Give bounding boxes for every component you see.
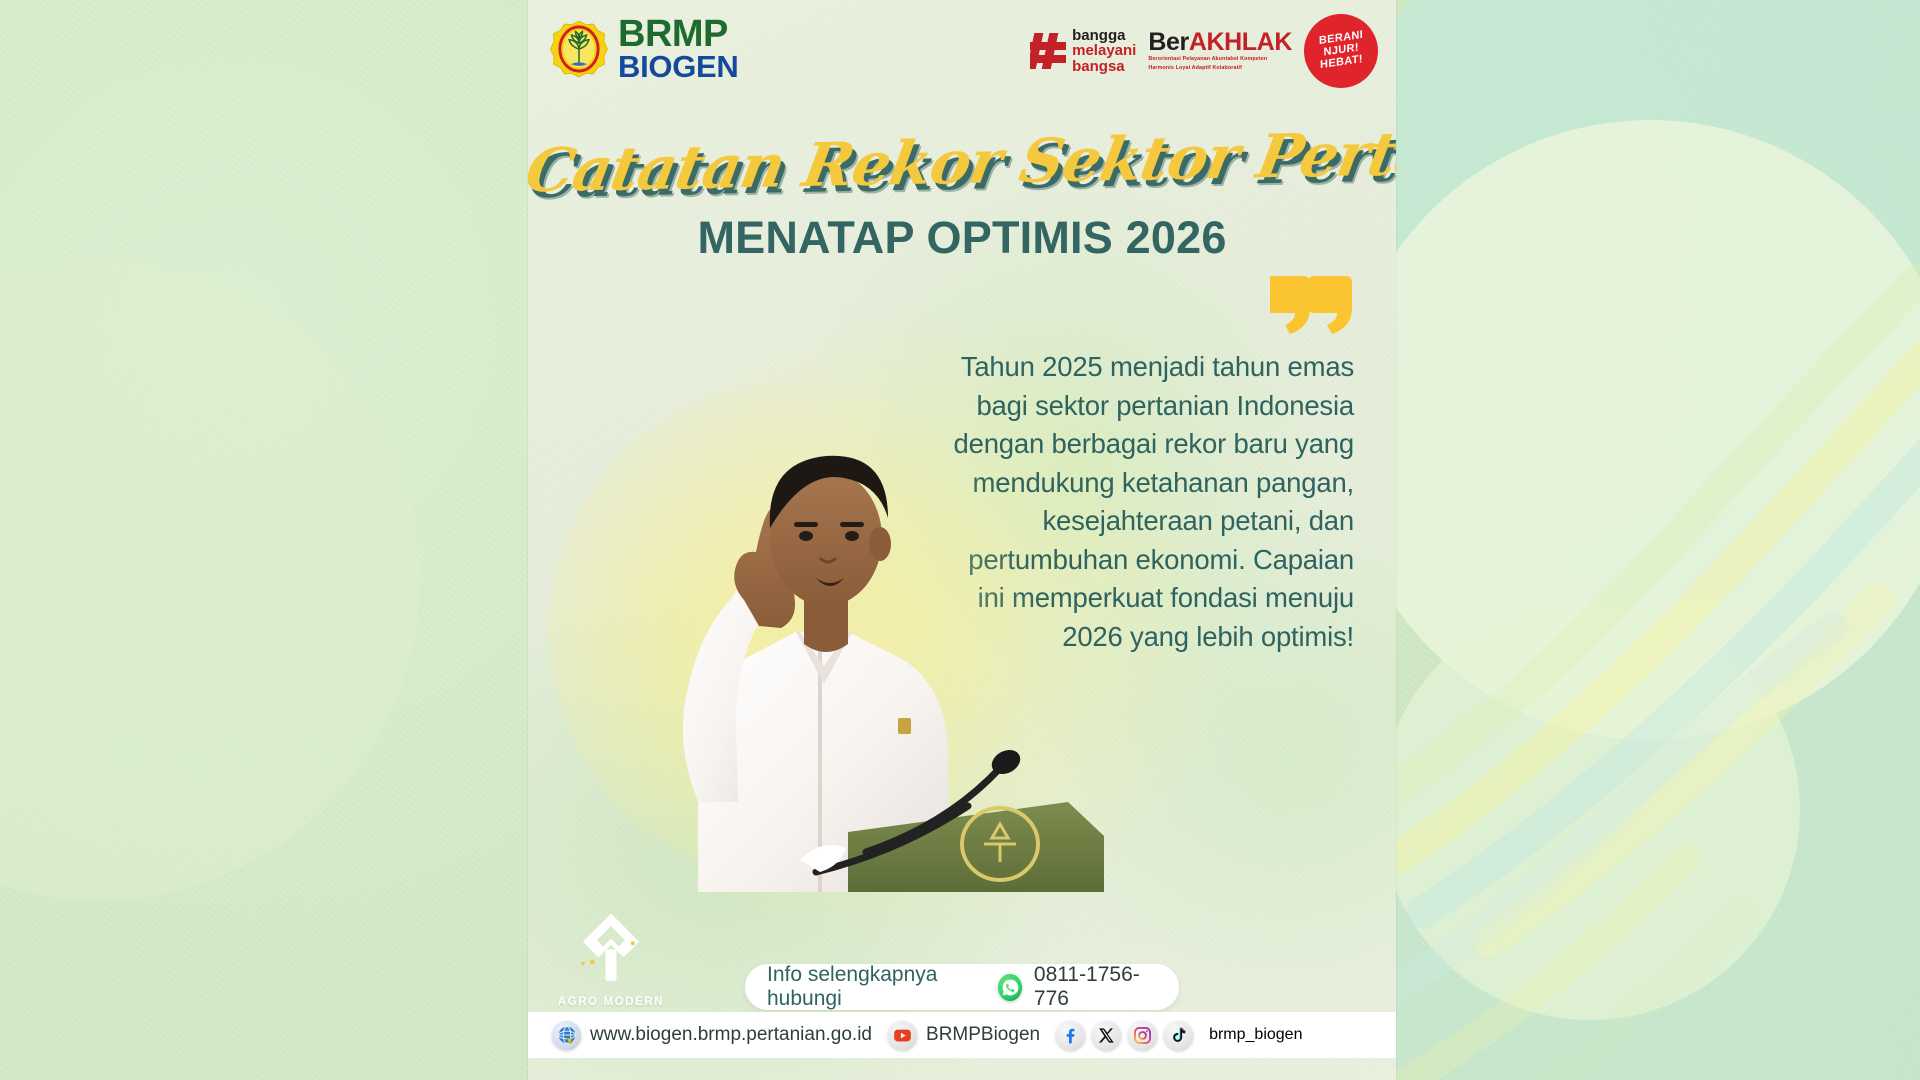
footer-youtube[interactable]: BRMPBiogen <box>888 1021 1040 1050</box>
berakhlak-wordmark: BerAKHLAK <box>1148 30 1292 55</box>
brmp-logo: BRMP BIOGEN <box>550 16 739 82</box>
bangga-line2: melayani <box>1072 43 1136 58</box>
footer-website-text: www.biogen.brmp.pertanian.go.id <box>590 1024 872 1046</box>
youtube-icon <box>888 1021 917 1050</box>
footer-social-icons <box>1056 1021 1193 1050</box>
tiktok-icon[interactable] <box>1164 1021 1193 1050</box>
footer-social-handle: brmp_biogen <box>1209 1026 1302 1044</box>
partner-logos: bangga melayani bangsa BerAKHLAK Berorie… <box>1030 14 1378 88</box>
contact-pill[interactable]: Info selengkapnya hubungi 0811-1756-776 <box>745 964 1179 1010</box>
contact-label: Info selengkapnya hubungi <box>767 963 986 1011</box>
berani-hebat-badge: BERANI NJUR! HEBAT! <box>1304 14 1378 88</box>
bangga-line1: bangga <box>1072 28 1136 43</box>
berakhlak-main: AKHLAK <box>1189 28 1292 56</box>
agro-modern-label: AGRO MODERN <box>556 996 666 1008</box>
poster-card: BRMP BIOGEN bangga <box>528 0 1396 1080</box>
hashtag-icon <box>1030 30 1066 72</box>
agro-modern-logo: AGRO MODERN <box>556 909 666 1008</box>
speaker-photo <box>548 332 1128 892</box>
quotation-mark-icon <box>1270 272 1352 334</box>
footer-website[interactable]: www.biogen.brmp.pertanian.go.id <box>552 1021 872 1050</box>
poster-footer-bar: www.biogen.brmp.pertanian.go.id BRMPBiog… <box>528 1012 1396 1058</box>
x-twitter-icon[interactable] <box>1092 1021 1121 1050</box>
poster-header: BRMP BIOGEN bangga <box>528 0 1396 104</box>
berakhlak-prefix: Ber <box>1148 28 1189 56</box>
brmp-seal-icon <box>550 20 608 78</box>
instagram-icon[interactable] <box>1128 1021 1157 1050</box>
brmp-wordmark-line2: BIOGEN <box>618 52 739 82</box>
bangga-line3: bangsa <box>1072 59 1136 74</box>
berakhlak-subtitle-line1: Berorientasi Pelayanan Akuntabel Kompete… <box>1148 56 1292 64</box>
facebook-icon[interactable] <box>1056 1021 1085 1050</box>
brmp-wordmark: BRMP BIOGEN <box>618 16 739 82</box>
bangga-wordmark: bangga melayani bangsa <box>1072 28 1136 74</box>
globe-icon <box>552 1021 581 1050</box>
contact-phone[interactable]: 0811-1756-776 <box>1034 963 1157 1011</box>
agro-modern-monogram-icon <box>570 909 652 987</box>
whatsapp-icon[interactable] <box>998 974 1022 1001</box>
footer-youtube-text: BRMPBiogen <box>926 1024 1040 1046</box>
berakhlak-subtitle-line2: Harmonis Loyal Adaptif Kolaboratif <box>1148 65 1292 73</box>
berakhlak-logo: BerAKHLAK Berorientasi Pelayanan Akuntab… <box>1148 30 1292 73</box>
brmp-wordmark-line1: BRMP <box>618 16 739 52</box>
screenshot-root: BRMP BIOGEN bangga <box>0 0 1920 1080</box>
poster-title-subtitle: MENATAP OPTIMIS 2026 <box>528 212 1396 264</box>
bangga-melayani-bangsa-logo: bangga melayani bangsa <box>1030 28 1136 74</box>
